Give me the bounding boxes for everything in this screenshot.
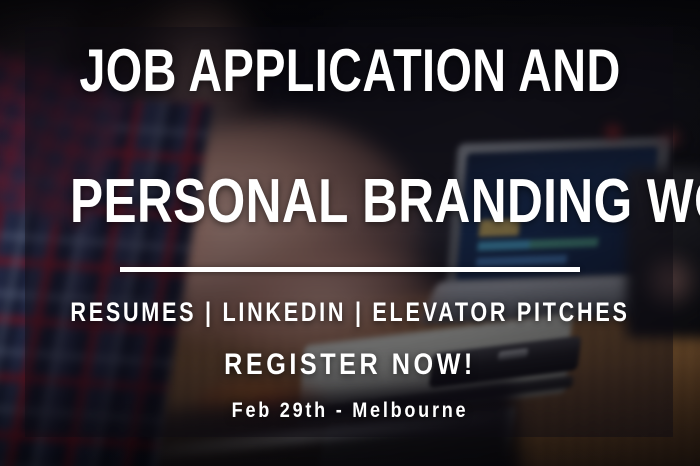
horizontal-divider bbox=[120, 267, 580, 272]
topics-subtitle: RESUMES | LINKEDIN | ELEVATOR PITCHES bbox=[70, 297, 630, 328]
headline-line-1: JOB APPLICATION AND bbox=[77, 41, 623, 101]
date-location-text: Feb 29th - Melbourne bbox=[49, 399, 651, 423]
poster-content: JOB APPLICATION AND PERSONAL BRANDING WO… bbox=[0, 0, 700, 466]
event-poster: JOB APPLICATION AND PERSONAL BRANDING WO… bbox=[0, 0, 700, 466]
headline-line-2: PERSONAL BRANDING WORKSHOP bbox=[70, 171, 630, 233]
register-now-callout[interactable]: REGISTER NOW! bbox=[56, 348, 644, 382]
